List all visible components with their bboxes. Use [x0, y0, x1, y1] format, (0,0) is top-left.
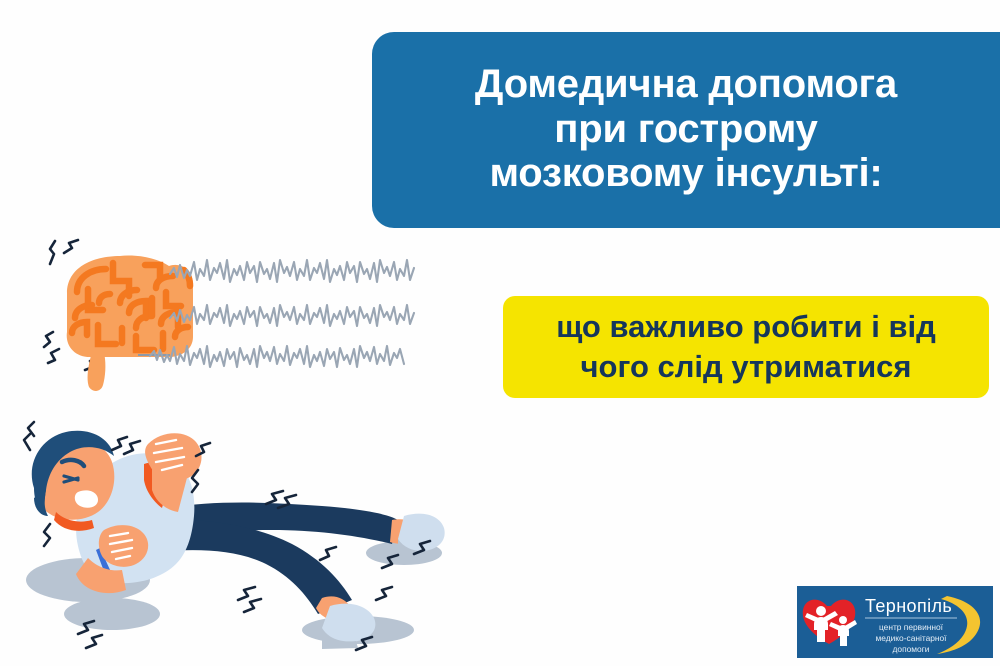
title-line-2: при гострому [554, 107, 817, 152]
near-leg [158, 520, 375, 649]
subtitle-line-2: чого слід утриматися [581, 347, 912, 387]
brain-eeg-illustration [30, 232, 435, 402]
subtitle-box: що важливо робити і від чого слід утрима… [503, 296, 989, 398]
logo-subtitle-line-1: центр первинної [879, 622, 944, 632]
eeg-wave-row-2 [170, 305, 414, 326]
eeg-wave-row-3 [150, 346, 404, 367]
poster-root: Домедична допомога при гострому мозковом… [0, 0, 1000, 666]
eeg-wave-row-1 [170, 260, 414, 282]
title-line-3: мозковому інсульті: [489, 151, 882, 196]
ternopil-logo: Тернопіль центр первинної медико-санітар… [797, 586, 993, 658]
logo-subtitle-line-3: допомоги [893, 644, 930, 654]
person-seizure-illustration [0, 408, 465, 666]
title-banner: Домедична допомога при гострому мозковом… [372, 32, 1000, 228]
subtitle-line-1: що важливо робити і від [556, 307, 936, 347]
title-line-1: Домедична допомога [475, 62, 897, 107]
logo-subtitle-line-2: медико-санітарної [876, 633, 948, 643]
logo-title: Тернопіль [865, 596, 952, 616]
